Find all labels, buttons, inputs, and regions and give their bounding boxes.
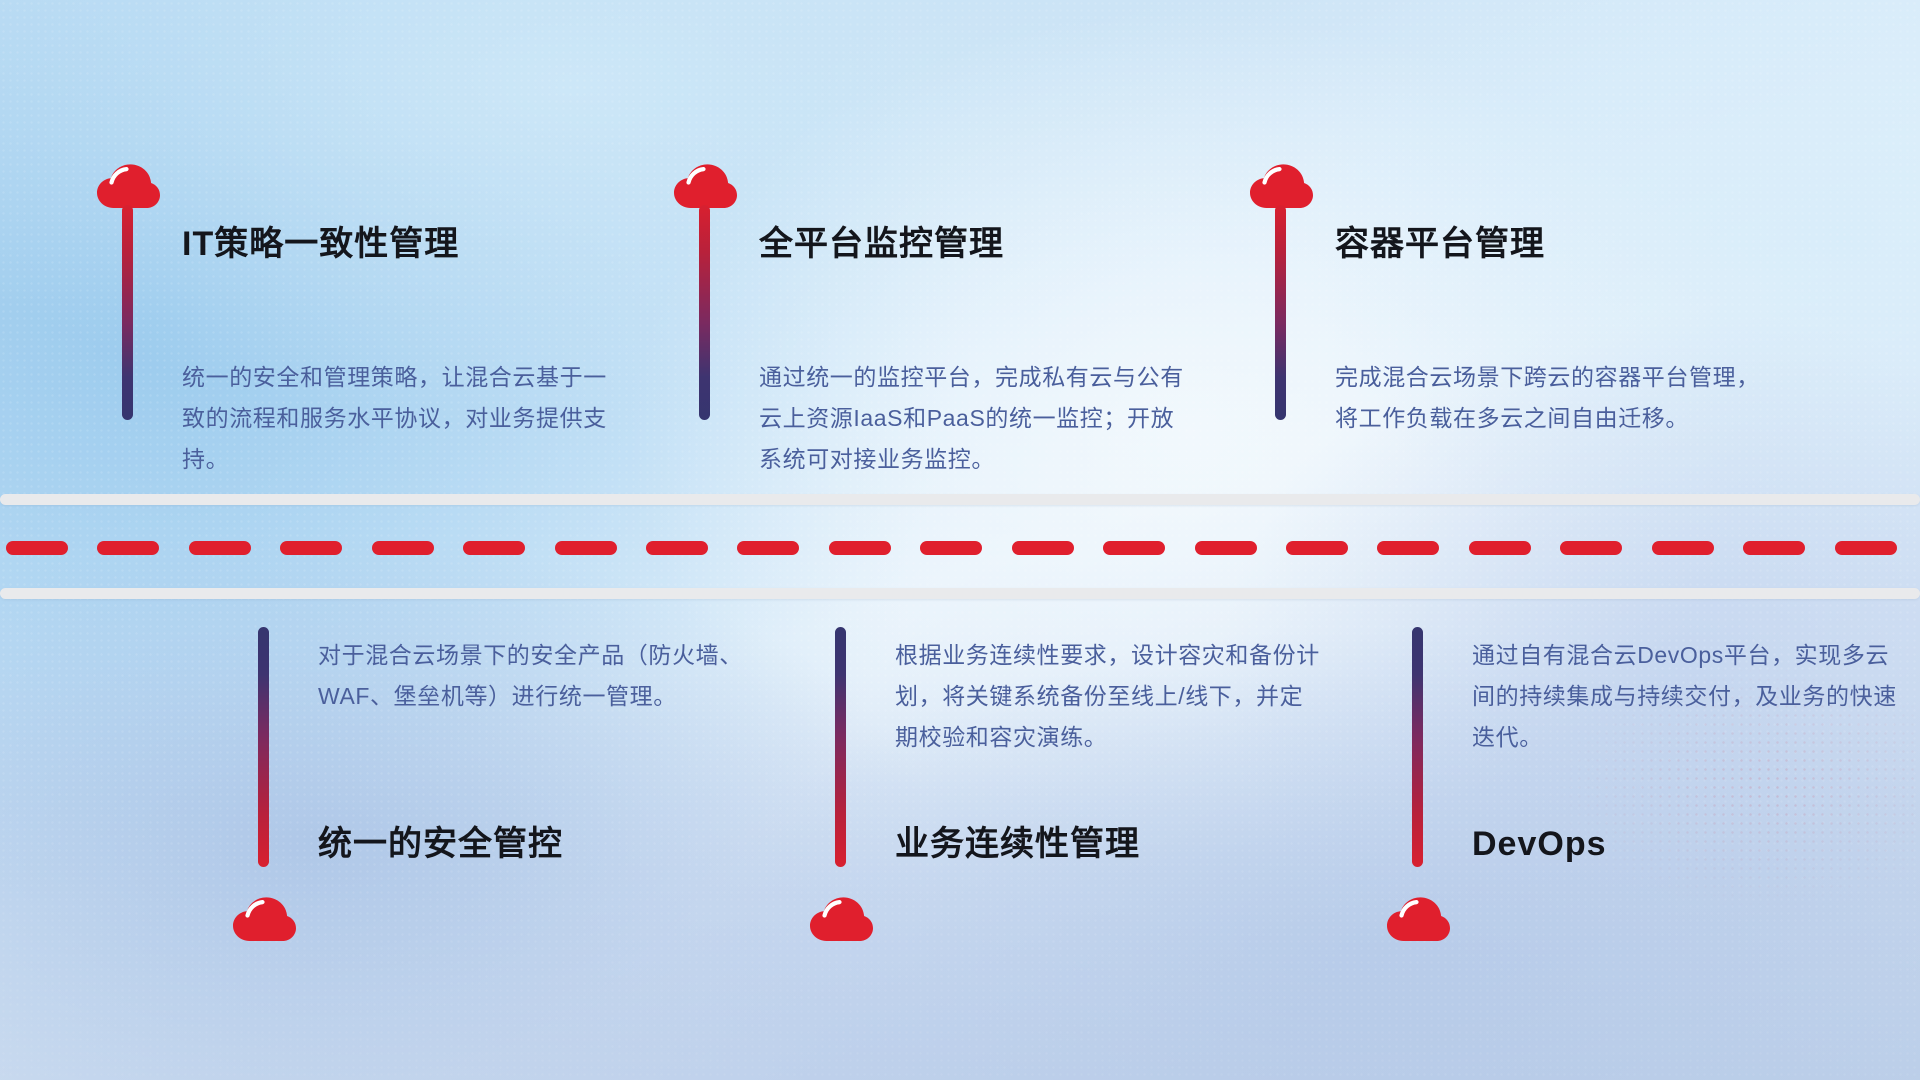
- divider-dash: [1012, 541, 1074, 555]
- divider-dash: [829, 541, 891, 555]
- infographic-canvas: IT策略一致性管理 统一的安全和管理策略，让混合云基于一致的流程和服务水平协议，…: [0, 0, 1920, 1080]
- divider-dash: [1286, 541, 1348, 555]
- bottom-column-1-title: 统一的安全管控: [318, 824, 563, 865]
- divider-dash: [555, 541, 617, 555]
- divider-dashed-line: [0, 541, 1920, 555]
- divider-dash: [97, 541, 159, 555]
- cloud-icon: [1248, 160, 1314, 210]
- divider-dash: [1560, 541, 1622, 555]
- divider-dash: [1743, 541, 1805, 555]
- connector-stem: [1412, 627, 1423, 867]
- divider-dash: [189, 541, 251, 555]
- divider-band-top: [0, 494, 1920, 505]
- top-column-3-title: 容器平台管理: [1335, 224, 1545, 265]
- connector-stem: [122, 205, 133, 420]
- divider-dash: [6, 541, 68, 555]
- divider-dash: [1469, 541, 1531, 555]
- bottom-column-1-body: 对于混合云场景下的安全产品（防火墙、WAF、堡垒机等）进行统一管理。: [318, 635, 748, 717]
- bottom-column-3-title: DevOps: [1472, 824, 1607, 865]
- divider-dash: [920, 541, 982, 555]
- connector-stem: [699, 205, 710, 420]
- divider-dash: [737, 541, 799, 555]
- divider-dash: [1835, 541, 1897, 555]
- divider-dash: [1103, 541, 1165, 555]
- divider-dash: [463, 541, 525, 555]
- connector-stem: [1275, 205, 1286, 420]
- cloud-icon: [95, 160, 161, 210]
- divider-dash: [646, 541, 708, 555]
- cloud-icon: [672, 160, 738, 210]
- cloud-icon: [231, 893, 297, 943]
- divider-dash: [280, 541, 342, 555]
- bottom-column-3-body: 通过自有混合云DevOps平台，实现多云间的持续集成与持续交付，及业务的快速迭代…: [1472, 635, 1902, 758]
- divider-dash: [1652, 541, 1714, 555]
- divider-dash: [372, 541, 434, 555]
- top-column-3-body: 完成混合云场景下跨云的容器平台管理，将工作负载在多云之间自由迁移。: [1335, 357, 1765, 439]
- divider-dash: [1195, 541, 1257, 555]
- cloud-icon: [808, 893, 874, 943]
- bottom-column-2-title: 业务连续性管理: [895, 824, 1140, 865]
- divider-dash: [1377, 541, 1439, 555]
- cloud-icon: [1385, 893, 1451, 943]
- connector-stem: [835, 627, 846, 867]
- divider-band-bottom: [0, 588, 1920, 599]
- bottom-column-2-body: 根据业务连续性要求，设计容灾和备份计划，将关键系统备份至线上/线下，并定期校验和…: [895, 635, 1325, 758]
- top-column-1-body: 统一的安全和管理策略，让混合云基于一致的流程和服务水平协议，对业务提供支持。: [182, 357, 612, 480]
- top-column-2-body: 通过统一的监控平台，完成私有云与公有云上资源IaaS和PaaS的统一监控；开放系…: [759, 357, 1189, 480]
- connector-stem: [258, 627, 269, 867]
- top-column-2-title: 全平台监控管理: [759, 224, 1004, 265]
- top-column-1-title: IT策略一致性管理: [182, 224, 459, 265]
